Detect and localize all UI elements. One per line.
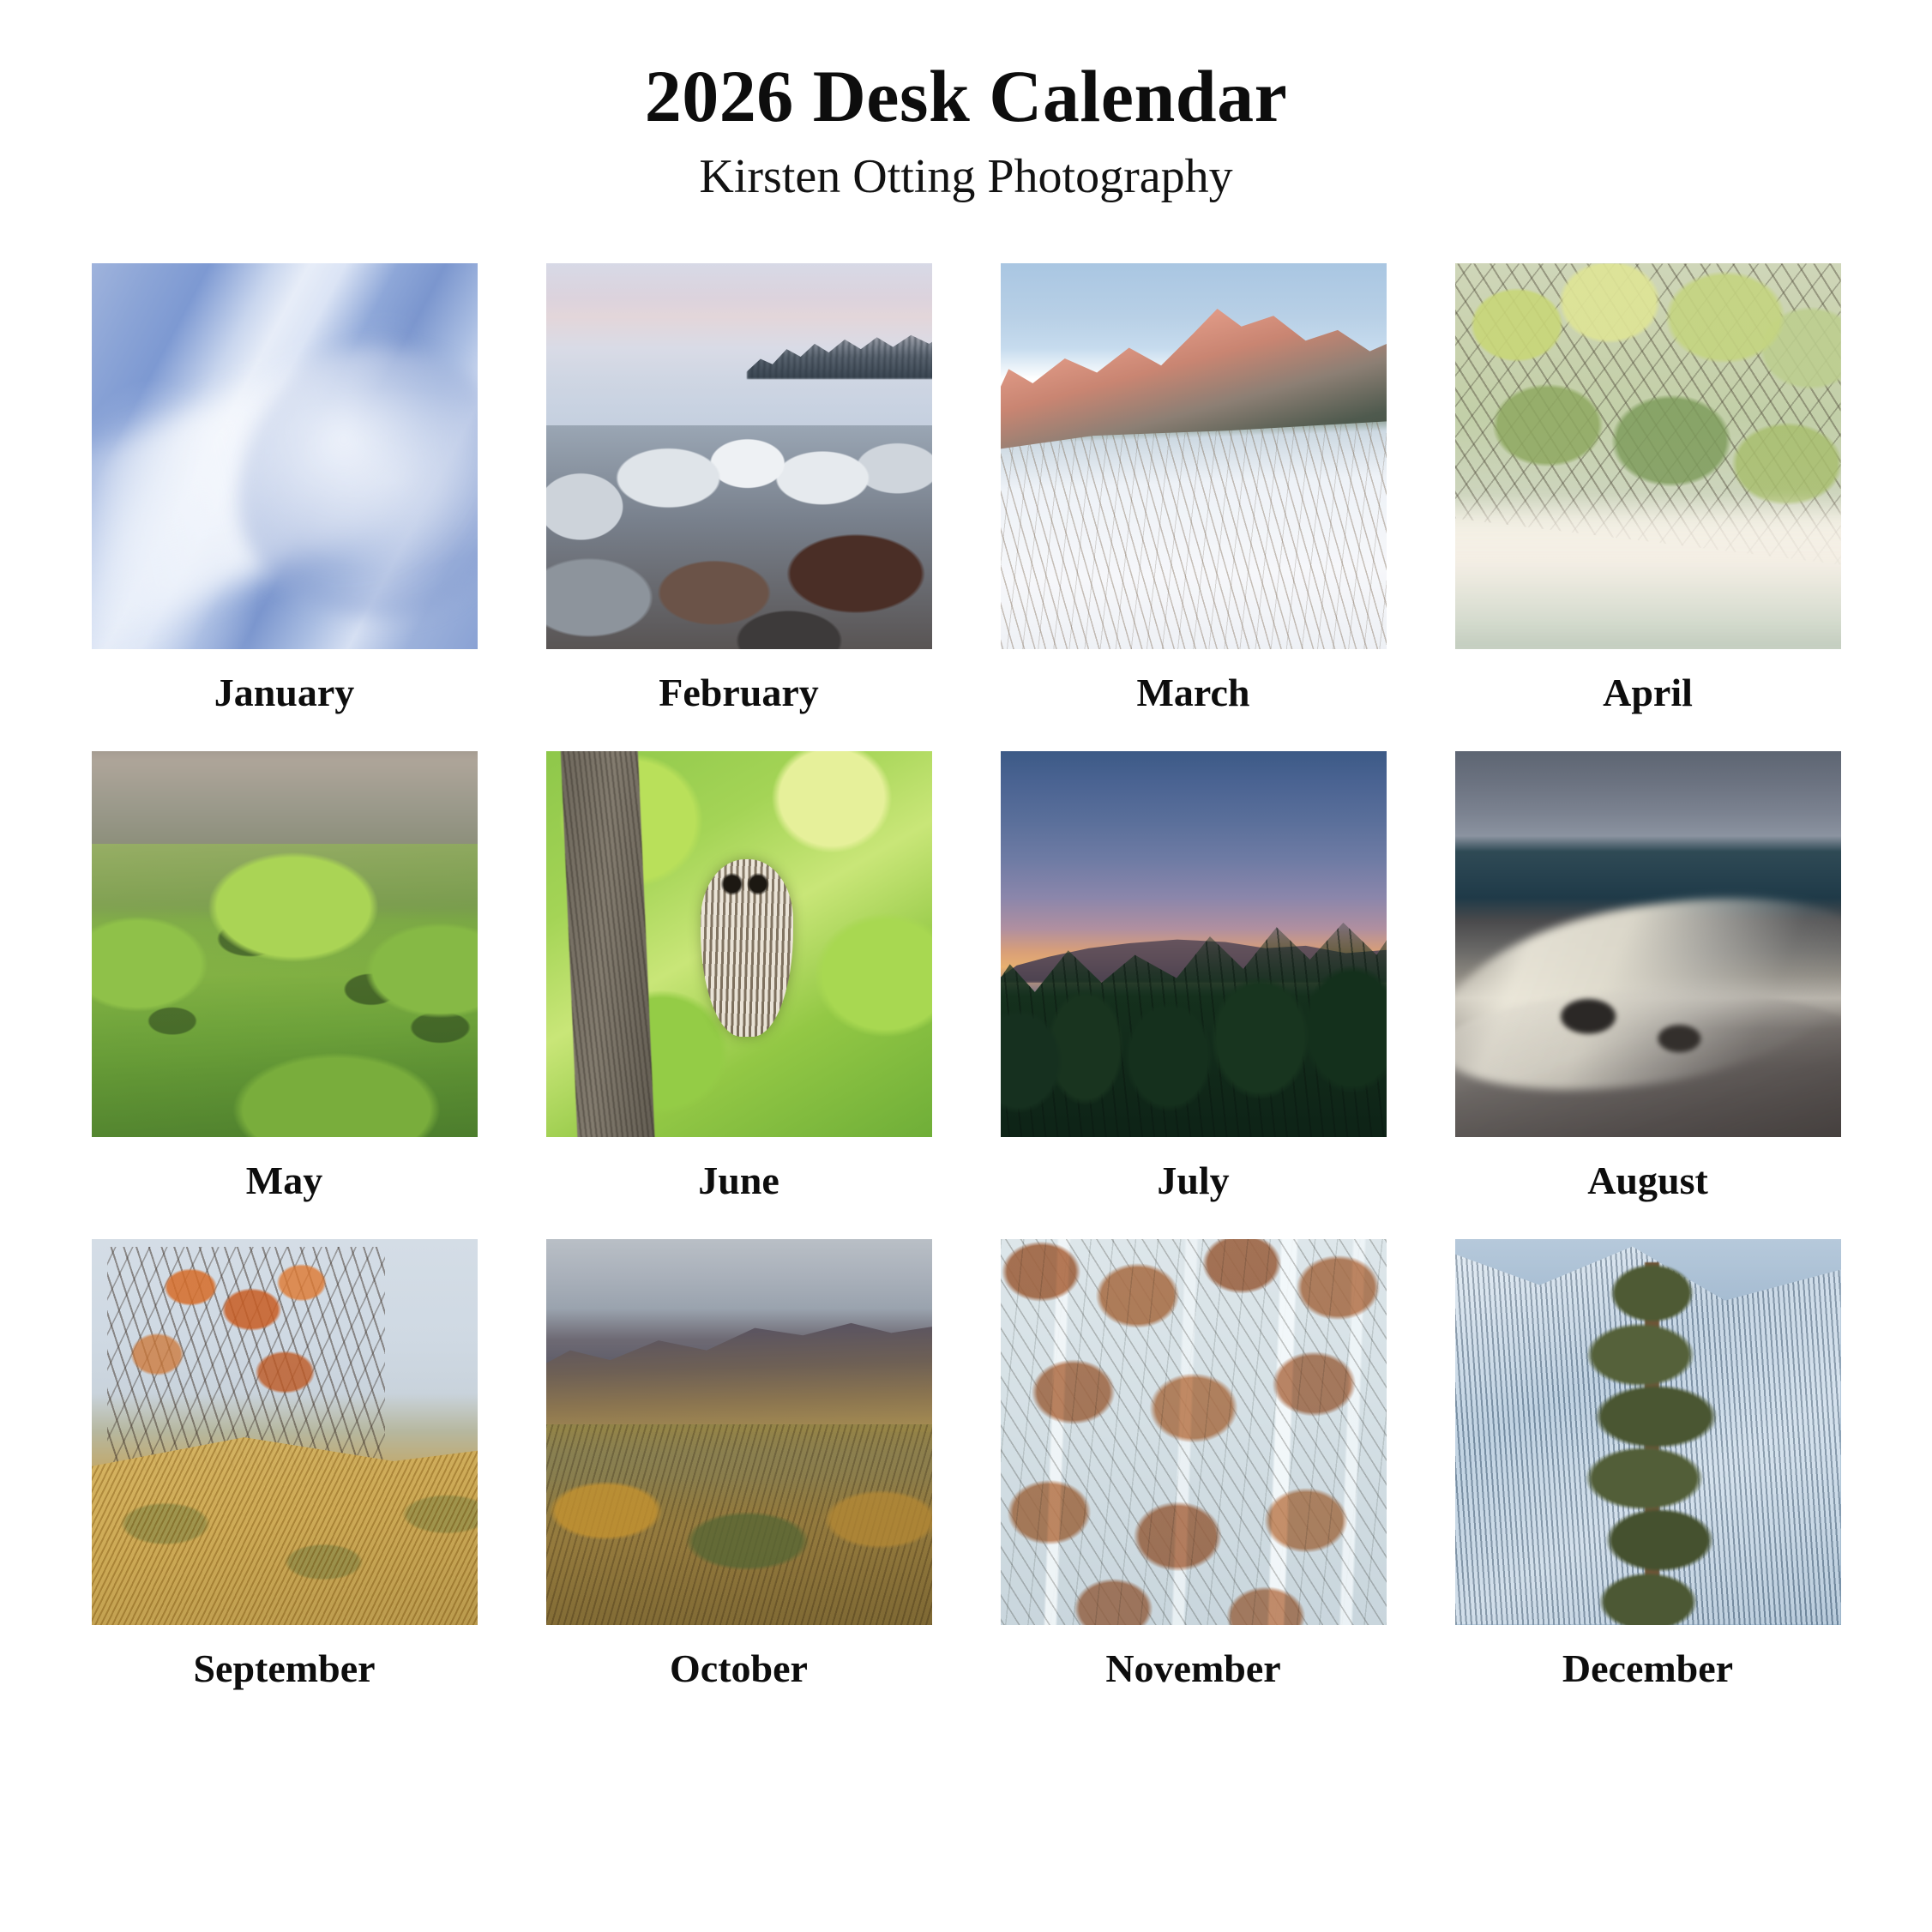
month-label-december: December: [1562, 1647, 1733, 1691]
photo-february: [546, 263, 932, 649]
photo-frame-april[interactable]: [1455, 263, 1841, 649]
photo-frame-june[interactable]: [546, 751, 932, 1137]
month-cell-november[interactable]: November: [1001, 1239, 1387, 1703]
calendar-page: 2026 Desk Calendar Kirsten Otting Photog…: [0, 0, 1932, 1932]
photo-january: [92, 263, 478, 649]
month-label-june: June: [698, 1159, 779, 1203]
month-cell-july[interactable]: July: [1001, 751, 1387, 1215]
month-cell-april[interactable]: April: [1455, 263, 1841, 727]
month-label-april: April: [1603, 671, 1693, 715]
photo-august: [1455, 751, 1841, 1137]
photo-july: [1001, 751, 1387, 1137]
month-grid: January February March April May: [92, 263, 1841, 1702]
photo-may: [92, 751, 478, 1137]
photo-frame-february[interactable]: [546, 263, 932, 649]
photo-frame-november[interactable]: [1001, 1239, 1387, 1625]
photo-frame-december[interactable]: [1455, 1239, 1841, 1625]
month-cell-may[interactable]: May: [92, 751, 478, 1215]
photo-frame-september[interactable]: [92, 1239, 478, 1625]
calendar-header: 2026 Desk Calendar Kirsten Otting Photog…: [0, 0, 1932, 207]
month-cell-february[interactable]: February: [546, 263, 932, 727]
month-cell-june[interactable]: June: [546, 751, 932, 1215]
month-label-september: September: [193, 1647, 375, 1691]
month-cell-september[interactable]: September: [92, 1239, 478, 1703]
photo-frame-january[interactable]: [92, 263, 478, 649]
photo-frame-march[interactable]: [1001, 263, 1387, 649]
photo-april: [1455, 263, 1841, 649]
month-label-march: March: [1136, 671, 1249, 715]
photo-october: [546, 1239, 932, 1625]
photo-frame-august[interactable]: [1455, 751, 1841, 1137]
photo-march: [1001, 263, 1387, 649]
month-cell-december[interactable]: December: [1455, 1239, 1841, 1703]
month-label-january: January: [214, 671, 355, 715]
page-title: 2026 Desk Calendar: [0, 58, 1932, 135]
month-label-february: February: [659, 671, 819, 715]
photo-frame-may[interactable]: [92, 751, 478, 1137]
photo-december: [1455, 1239, 1841, 1625]
photo-frame-july[interactable]: [1001, 751, 1387, 1137]
month-cell-january[interactable]: January: [92, 263, 478, 727]
photo-september: [92, 1239, 478, 1625]
photo-frame-october[interactable]: [546, 1239, 932, 1625]
month-cell-august[interactable]: August: [1455, 751, 1841, 1215]
month-label-october: October: [670, 1647, 808, 1691]
photo-june: [546, 751, 932, 1137]
page-subtitle: Kirsten Otting Photography: [0, 147, 1932, 207]
photo-november: [1001, 1239, 1387, 1625]
month-label-may: May: [246, 1159, 322, 1203]
month-cell-october[interactable]: October: [546, 1239, 932, 1703]
month-label-july: July: [1157, 1159, 1229, 1203]
month-label-november: November: [1105, 1647, 1280, 1691]
month-label-august: August: [1587, 1159, 1708, 1203]
month-cell-march[interactable]: March: [1001, 263, 1387, 727]
